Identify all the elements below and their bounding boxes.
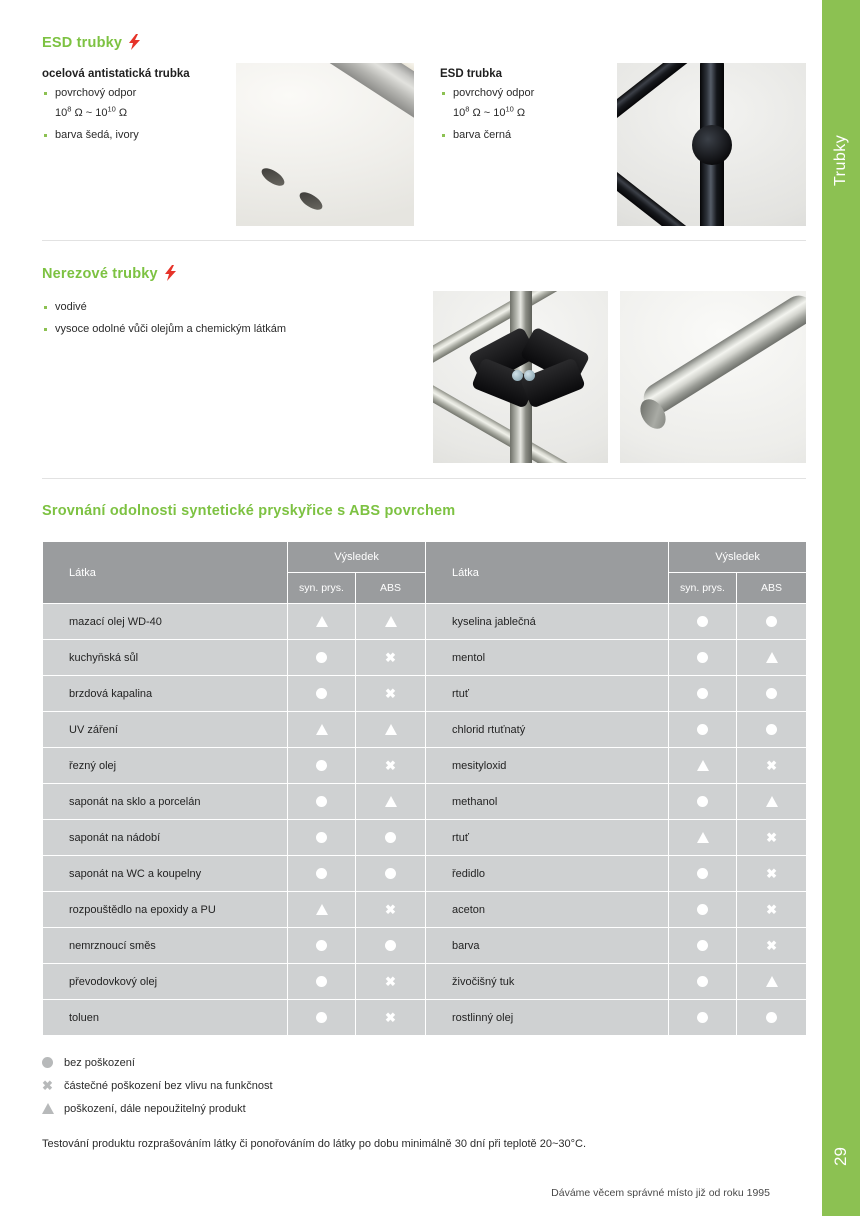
cell-abs-left: ✖ — [356, 748, 426, 784]
symbol-circle-abs — [766, 616, 777, 627]
section-title-esd: ESD trubky — [42, 34, 141, 51]
legend-row: poškození, dále nepoužitelný produkt — [42, 1097, 273, 1120]
cell-abs-left: ✖ — [356, 892, 426, 928]
lightning-bolt-icon — [128, 34, 141, 50]
cell-abs-right: ✖ — [737, 856, 807, 892]
symbol-circle-syn — [316, 1012, 327, 1023]
black-pipe-joint-photo — [617, 63, 806, 226]
symbol-cross-legend: ✖ — [42, 1079, 53, 1092]
cell-substance-right: methanol — [426, 784, 669, 820]
symbol-circle-syn — [316, 940, 327, 951]
lightning-bolt-icon — [164, 265, 177, 281]
page-number: 29 — [822, 1132, 860, 1182]
legend-symbol — [42, 1057, 64, 1068]
legend-label: bez poškození — [64, 1057, 135, 1069]
legend-symbol: ✖ — [42, 1079, 64, 1092]
cell-abs-right — [737, 640, 807, 676]
symbol-cross-abs: ✖ — [385, 902, 396, 917]
table-head-row-1: Látka Výsledek Látka Výsledek — [43, 542, 807, 573]
cell-syn-right — [669, 676, 737, 712]
cell-syn-right — [669, 820, 737, 856]
symbol-triangle-syn — [697, 832, 709, 843]
symbol-cross-abs: ✖ — [766, 758, 777, 773]
col-header-substance-left: Látka — [43, 542, 288, 604]
cell-abs-right: ✖ — [737, 748, 807, 784]
section-title-nerezove: Nerezové trubky — [42, 265, 177, 282]
list-item: barva černá — [440, 128, 615, 143]
cell-abs-right — [737, 676, 807, 712]
symbol-cross-abs: ✖ — [385, 650, 396, 665]
table-row: rozpouštědlo na epoxidy a PU✖aceton✖ — [43, 892, 807, 928]
resistance-comparison-table: Látka Výsledek Látka Výsledek syn. prys.… — [42, 541, 807, 1036]
table-body: mazací olej WD-40kyselina jablečnákuchyň… — [43, 604, 807, 1036]
cell-substance-right: aceton — [426, 892, 669, 928]
legend: bez poškození✖částečné poškození bez vli… — [42, 1051, 273, 1120]
esd-right-heading: ESD trubka — [440, 68, 502, 80]
cell-abs-right — [737, 604, 807, 640]
symbol-circle-syn — [697, 868, 708, 879]
table-row: brzdová kapalina✖rtuť — [43, 676, 807, 712]
symbol-circle-syn — [697, 616, 708, 627]
list-item: vodivé — [42, 300, 422, 315]
symbol-circle-syn — [697, 976, 708, 987]
cell-syn-left — [288, 604, 356, 640]
cell-substance-left: brzdová kapalina — [43, 676, 288, 712]
cell-syn-right — [669, 1000, 737, 1036]
symbol-circle-syn — [697, 904, 708, 915]
cell-substance-right: živočišný tuk — [426, 964, 669, 1000]
legend-symbol — [42, 1103, 64, 1114]
cell-syn-right — [669, 604, 737, 640]
cell-substance-left: saponát na WC a koupelny — [43, 856, 288, 892]
cell-syn-right — [669, 928, 737, 964]
symbol-triangle-syn — [697, 760, 709, 771]
symbol-triangle-legend — [42, 1103, 54, 1114]
cell-syn-right — [669, 640, 737, 676]
table-head: Látka Výsledek Látka Výsledek syn. prys.… — [43, 542, 807, 604]
section-tab-band: Trubky 29 — [822, 0, 860, 1216]
symbol-circle-syn — [697, 652, 708, 663]
symbol-circle-syn — [316, 976, 327, 987]
table-row: řezný olej✖mesityloxid✖ — [43, 748, 807, 784]
resistance-value: 108 Ω ~ 1010 Ω — [453, 107, 525, 119]
symbol-cross-abs: ✖ — [766, 866, 777, 881]
symbol-circle-syn — [316, 868, 327, 879]
cell-substance-left: řezný olej — [43, 748, 288, 784]
symbol-triangle-syn — [316, 724, 328, 735]
cell-substance-right: chlorid rtuťnatý — [426, 712, 669, 748]
esd-left-heading: ocelová antistatická trubka — [42, 68, 190, 80]
symbol-cross-abs: ✖ — [766, 938, 777, 953]
list-item: barva šedá, ivory — [42, 128, 227, 143]
symbol-circle-abs — [766, 724, 777, 735]
steel-pipe-joint-photo — [433, 291, 608, 463]
cell-substance-left: nemrznoucí směs — [43, 928, 288, 964]
symbol-circle-syn — [316, 832, 327, 843]
symbol-triangle-syn — [316, 616, 328, 627]
cell-substance-left: saponát na sklo a porcelán — [43, 784, 288, 820]
cell-substance-left: rozpouštědlo na epoxidy a PU — [43, 892, 288, 928]
cell-syn-left — [288, 1000, 356, 1036]
symbol-cross-abs: ✖ — [385, 1010, 396, 1025]
cell-substance-right: kyselina jablečná — [426, 604, 669, 640]
cell-abs-right: ✖ — [737, 892, 807, 928]
col-header-abs-left: ABS — [356, 573, 426, 604]
cell-substance-left: saponát na nádobí — [43, 820, 288, 856]
symbol-cross-abs: ✖ — [385, 758, 396, 773]
cell-abs-left — [356, 856, 426, 892]
table-row: kuchyňská sůl✖mentol — [43, 640, 807, 676]
symbol-circle-syn — [697, 688, 708, 699]
cell-syn-left — [288, 640, 356, 676]
esd-left-bullets: povrchový odpor 108 Ω ~ 1010 Ω barva šed… — [42, 86, 227, 150]
cell-syn-right — [669, 748, 737, 784]
cell-abs-right — [737, 1000, 807, 1036]
col-header-abs-right: ABS — [737, 573, 807, 604]
cell-abs-right: ✖ — [737, 928, 807, 964]
table-row: mazací olej WD-40kyselina jablečná — [43, 604, 807, 640]
cell-abs-left: ✖ — [356, 640, 426, 676]
cell-abs-left: ✖ — [356, 676, 426, 712]
table-row: toluen✖rostlinný olej — [43, 1000, 807, 1036]
cell-abs-right — [737, 964, 807, 1000]
cell-abs-right: ✖ — [737, 820, 807, 856]
symbol-circle-syn — [697, 1012, 708, 1023]
divider-1 — [42, 240, 806, 241]
cell-syn-left — [288, 712, 356, 748]
legend-row: ✖částečné poškození bez vlivu na funkčno… — [42, 1074, 273, 1097]
cell-substance-left: UV záření — [43, 712, 288, 748]
legend-row: bez poškození — [42, 1051, 273, 1074]
section-title-esd-text: ESD trubky — [42, 35, 122, 51]
legend-label: poškození, dále nepoužitelný produkt — [64, 1103, 246, 1115]
symbol-circle-abs — [766, 1012, 777, 1023]
cell-abs-left — [356, 820, 426, 856]
cell-substance-left: toluen — [43, 1000, 288, 1036]
two-metal-tubes-photo — [236, 63, 414, 226]
symbol-circle-abs — [385, 940, 396, 951]
cell-abs-left — [356, 604, 426, 640]
symbol-circle-abs — [385, 832, 396, 843]
table-row: UV zářeníchlorid rtuťnatý — [43, 712, 807, 748]
cell-abs-left: ✖ — [356, 964, 426, 1000]
cell-syn-left — [288, 676, 356, 712]
symbol-circle-abs — [766, 688, 777, 699]
table-row: převodovkový olej✖živočišný tuk — [43, 964, 807, 1000]
symbol-circle-legend — [42, 1057, 53, 1068]
bullet-text: povrchový odpor — [55, 87, 136, 99]
col-header-result-right: Výsledek — [669, 542, 807, 573]
col-header-syn-left: syn. prys. — [288, 573, 356, 604]
cell-abs-right — [737, 784, 807, 820]
cell-syn-left — [288, 784, 356, 820]
cell-abs-left — [356, 784, 426, 820]
cell-substance-right: mentol — [426, 640, 669, 676]
cell-substance-right: rtuť — [426, 820, 669, 856]
list-item: povrchový odpor 108 Ω ~ 1010 Ω — [440, 86, 615, 121]
legend-label: částečné poškození bez vlivu na funkčnos… — [64, 1080, 273, 1092]
symbol-triangle-syn — [316, 904, 328, 915]
symbol-circle-syn — [697, 796, 708, 807]
symbol-triangle-abs — [766, 976, 778, 987]
col-header-result-left: Výsledek — [288, 542, 426, 573]
footer-slogan: Dáváme věcem správné místo již od roku 1… — [551, 1187, 770, 1199]
cell-abs-left — [356, 712, 426, 748]
symbol-triangle-abs — [385, 724, 397, 735]
symbol-circle-syn — [697, 724, 708, 735]
steel-tube-closeup-photo — [620, 291, 806, 463]
cell-substance-left: kuchyňská sůl — [43, 640, 288, 676]
resistance-value: 108 Ω ~ 1010 Ω — [55, 107, 127, 119]
cell-syn-right — [669, 712, 737, 748]
cell-syn-right — [669, 964, 737, 1000]
section-tab-label: Trubky — [822, 95, 860, 225]
list-item: vysoce odolné vůči olejům a chemickým lá… — [42, 322, 422, 337]
cell-syn-left — [288, 748, 356, 784]
symbol-triangle-abs — [766, 652, 778, 663]
symbol-cross-abs: ✖ — [766, 902, 777, 917]
col-header-substance-right: Látka — [426, 542, 669, 604]
table-row: saponát na sklo a porcelánmethanol — [43, 784, 807, 820]
symbol-circle-syn — [316, 652, 327, 663]
test-note: Testování produktu rozprašováním látky č… — [42, 1138, 586, 1150]
symbol-circle-syn — [316, 760, 327, 771]
page-root: Trubky 29 ESD trubky ocelová antistatick… — [0, 0, 860, 1216]
symbol-triangle-abs — [385, 616, 397, 627]
cell-substance-left: převodovkový olej — [43, 964, 288, 1000]
section-title-nerezove-text: Nerezové trubky — [42, 266, 158, 282]
cell-syn-left — [288, 964, 356, 1000]
cell-abs-right — [737, 712, 807, 748]
list-item: povrchový odpor 108 Ω ~ 1010 Ω — [42, 86, 227, 121]
cell-syn-left — [288, 928, 356, 964]
cell-syn-right — [669, 784, 737, 820]
cell-abs-left: ✖ — [356, 1000, 426, 1036]
bullet-text: povrchový odpor — [453, 87, 534, 99]
cell-substance-right: barva — [426, 928, 669, 964]
symbol-cross-abs: ✖ — [766, 830, 777, 845]
cell-substance-right: mesityloxid — [426, 748, 669, 784]
symbol-circle-abs — [385, 868, 396, 879]
cell-syn-right — [669, 892, 737, 928]
cell-substance-right: ředidlo — [426, 856, 669, 892]
table-row: saponát na WC a koupelnyředidlo✖ — [43, 856, 807, 892]
table-row: saponát na nádobírtuť✖ — [43, 820, 807, 856]
cell-syn-left — [288, 856, 356, 892]
symbol-triangle-abs — [766, 796, 778, 807]
cell-abs-left — [356, 928, 426, 964]
table-section-title: Srovnání odolnosti syntetické pryskyřice… — [42, 503, 455, 519]
table-row: nemrznoucí směsbarva✖ — [43, 928, 807, 964]
esd-right-bullets: povrchový odpor 108 Ω ~ 1010 Ω barva čer… — [440, 86, 615, 150]
col-header-syn-right: syn. prys. — [669, 573, 737, 604]
cell-substance-right: rostlinný olej — [426, 1000, 669, 1036]
cell-substance-right: rtuť — [426, 676, 669, 712]
cell-syn-left — [288, 892, 356, 928]
page-content: ESD trubky ocelová antistatická trubka p… — [0, 0, 822, 1216]
cell-substance-left: mazací olej WD-40 — [43, 604, 288, 640]
nerezove-bullets: vodivé vysoce odolné vůči olejům a chemi… — [42, 300, 422, 344]
symbol-cross-abs: ✖ — [385, 974, 396, 989]
divider-2 — [42, 478, 806, 479]
symbol-circle-syn — [697, 940, 708, 951]
cell-syn-left — [288, 820, 356, 856]
symbol-circle-syn — [316, 688, 327, 699]
symbol-cross-abs: ✖ — [385, 686, 396, 701]
symbol-triangle-abs — [385, 796, 397, 807]
symbol-circle-syn — [316, 796, 327, 807]
cell-syn-right — [669, 856, 737, 892]
